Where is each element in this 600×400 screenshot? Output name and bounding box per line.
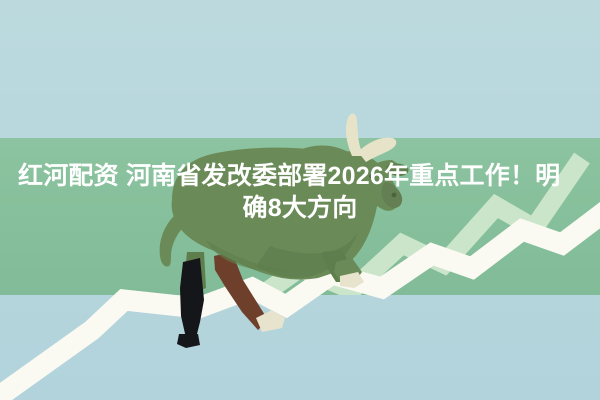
headline-line-1: 红河配资 河南省发改委部署2026年重点工作！明	[18, 160, 582, 192]
bull-rear-hoof	[177, 334, 200, 348]
bull-rear-leg-black	[180, 258, 204, 338]
headline: 红河配资 河南省发改委部署2026年重点工作！明 确8大方向	[0, 160, 600, 224]
banner-image: 红河配资 河南省发改委部署2026年重点工作！明 确8大方向	[0, 0, 600, 400]
bull-horn-front	[358, 138, 396, 162]
headline-line-2: 确8大方向	[18, 192, 582, 224]
